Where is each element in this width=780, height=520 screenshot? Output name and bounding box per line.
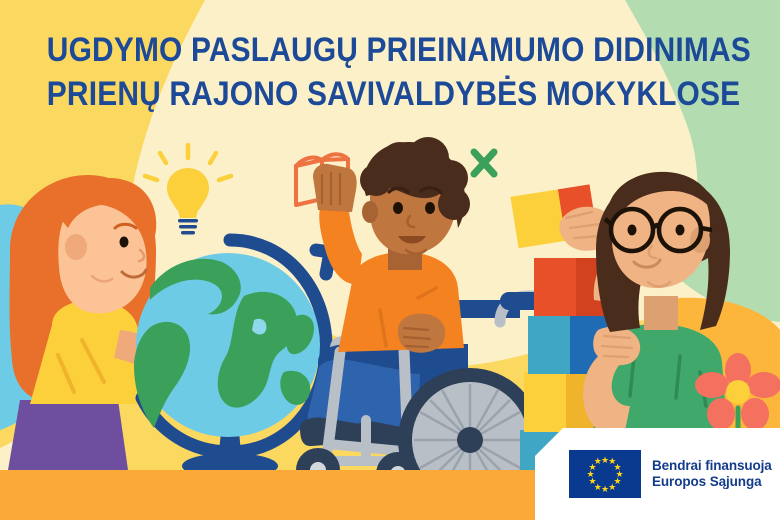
girl-right-eye-right bbox=[676, 225, 685, 236]
girl-right-eye-left bbox=[628, 225, 637, 236]
boy-hand-raised bbox=[313, 164, 357, 212]
eu-star: ★ bbox=[608, 483, 616, 491]
eu-funding-logo: ★★★★★★★★★★★★ Bendrai finansuoja Europos … bbox=[535, 428, 780, 520]
girl-left-eye bbox=[120, 237, 129, 248]
eu-logo-text: Bendrai finansuoja Europos Sąjunga bbox=[652, 458, 772, 491]
globe-lake bbox=[252, 319, 266, 335]
eu-flag-icon: ★★★★★★★★★★★★ bbox=[569, 450, 641, 498]
eu-logo-line2: Europos Sąjunga bbox=[652, 474, 772, 491]
boy-eye-left bbox=[393, 202, 403, 214]
flower-center bbox=[726, 380, 750, 404]
boy-eye-right bbox=[425, 202, 435, 214]
girl-left-skirt bbox=[8, 400, 128, 470]
wheel-hub bbox=[457, 427, 483, 453]
poster-canvas: UGDYMO PASLAUGŲ PRIEINAMUMO DIDINIMAS PR… bbox=[0, 0, 780, 520]
boy-hand-resting bbox=[398, 314, 445, 353]
eu-star: ★ bbox=[594, 457, 602, 465]
eu-logo-line1: Bendrai finansuoja bbox=[652, 458, 772, 475]
eu-star: ★ bbox=[601, 485, 609, 493]
